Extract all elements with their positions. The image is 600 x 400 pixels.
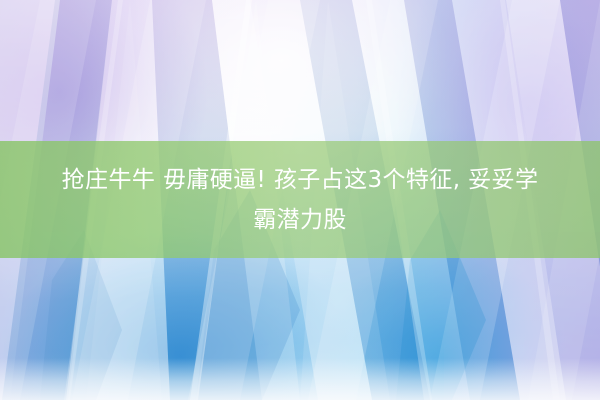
title-line-2: 霸潜力股 <box>253 200 347 240</box>
banner-image: 抢庄牛牛 毋庸硬逼! 孩子占这3个特征, 妥妥学 霸潜力股 <box>0 0 600 400</box>
title-line-1: 抢庄牛牛 毋庸硬逼! 孩子占这3个特征, 妥妥学 <box>62 160 539 200</box>
title-band: 抢庄牛牛 毋庸硬逼! 孩子占这3个特征, 妥妥学 霸潜力股 <box>0 141 600 258</box>
